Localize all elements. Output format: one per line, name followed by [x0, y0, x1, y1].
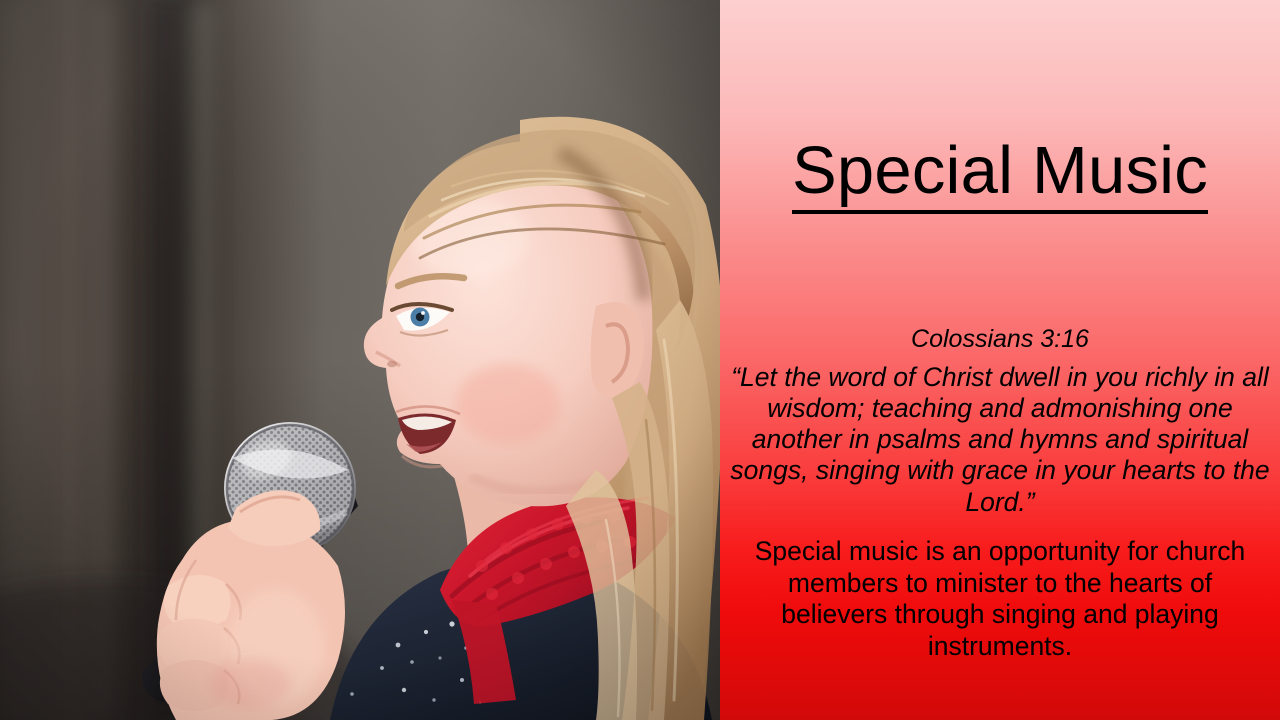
- page-title: Special Music: [792, 137, 1208, 214]
- verse-reference: Colossians 3:16: [728, 325, 1272, 354]
- girl-singing-photo: [0, 0, 720, 720]
- verse-text: “Let the word of Christ dwell in you ric…: [728, 362, 1272, 518]
- description-text: Special music is an opportunity for chur…: [728, 536, 1272, 663]
- title-block: Special Music: [728, 0, 1272, 259]
- text-panel: Special Music Colossians 3:16 “Let the w…: [720, 0, 1280, 720]
- slide-root: Special Music Colossians 3:16 “Let the w…: [0, 0, 1280, 720]
- photo-panel: [0, 0, 720, 720]
- body-block: Colossians 3:16 “Let the word of Christ …: [728, 325, 1272, 663]
